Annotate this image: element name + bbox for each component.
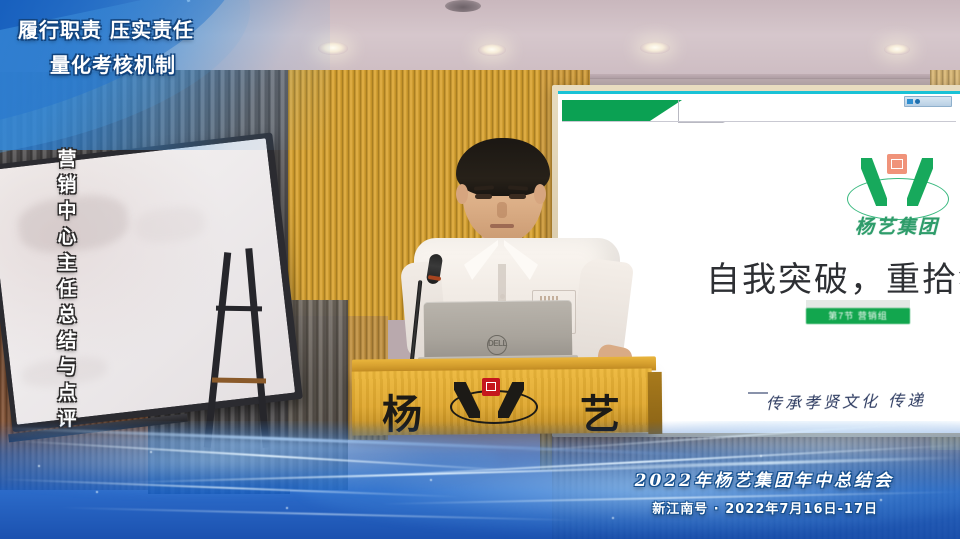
podium-side-panel (648, 372, 663, 434)
slide-badge-backdrop (806, 300, 910, 308)
podium-logo (436, 378, 548, 426)
whiteboard-crossbar (216, 306, 262, 312)
slide-green-shape (562, 100, 682, 122)
slide-divider (562, 121, 956, 122)
podium-char-left: 杨 (382, 382, 422, 440)
ceiling-speaker-icon (445, 0, 481, 12)
shirt-button (500, 294, 505, 299)
ceiling (0, 0, 960, 78)
nose (497, 202, 507, 218)
slide-section-badge: 第7节 营销组 (806, 308, 910, 324)
mouth (490, 224, 514, 228)
slide-title: 自我突破，重拾猎 (706, 252, 960, 301)
downlight-icon (640, 42, 670, 54)
video-frame: 杨艺集团 自我突破，重拾猎 第7节 营销组 传承孝贤文化 传递 DELL (0, 0, 960, 539)
downlight-icon (478, 44, 506, 56)
laptop-brand-logo: DELL (487, 335, 507, 355)
wall-wood-below-screen (552, 430, 960, 539)
eye-right (509, 194, 526, 199)
downlight-icon (884, 44, 910, 55)
wall-calligraphy: 传承孝贤文化 传递 (766, 386, 960, 420)
company-logo: 杨艺集团 (845, 152, 949, 240)
podium-char-right: 艺 (580, 382, 620, 440)
slide-top-accent-bar (558, 91, 960, 94)
downlight-icon (318, 42, 348, 55)
slide-diagonal-shape (678, 100, 725, 123)
eye-left (475, 194, 492, 199)
ear-right (534, 184, 546, 204)
logo-cube-icon (887, 154, 907, 174)
ear-left (456, 184, 468, 204)
whiteboard-crossbar (212, 378, 266, 384)
podium-logo-cube-icon (482, 378, 500, 396)
projector-osd-widget (904, 96, 952, 107)
logo-wordmark: 杨艺集团 (845, 212, 949, 239)
